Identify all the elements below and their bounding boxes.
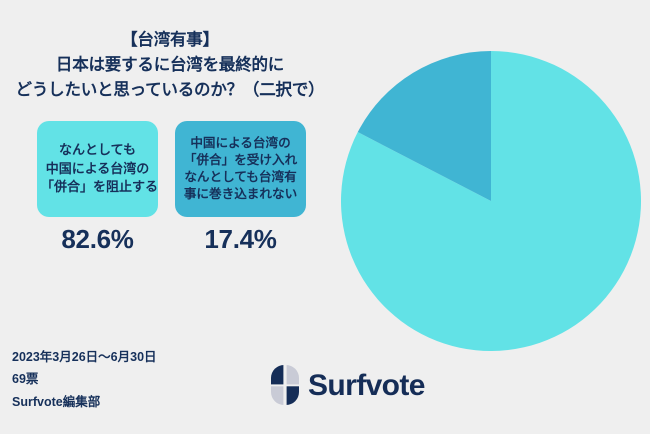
surfvote-logo: Surfvote [271, 364, 425, 406]
pie-chart [341, 51, 641, 351]
surfvote-logo-mark-icon [271, 365, 299, 405]
percent-value-option-b: 17.4% [175, 224, 306, 255]
title-line-2: 日本は要するに台湾を最終的に [0, 53, 340, 78]
footer-meta: 2023年3月26日〜6月30日 69票 Surfvote編集部 [12, 346, 157, 413]
vote-count: 69票 [12, 368, 157, 390]
legend-a-line-3: 「併合」を阻止する [41, 178, 154, 197]
legend-item-option-a: なんとしても 中国による台湾の 「併合」を阻止する [37, 121, 158, 217]
legend-b-line-4: 事に巻き込まれない [178, 186, 303, 203]
survey-source: Surfvote編集部 [12, 391, 157, 413]
legend-a-line-1: なんとしても [41, 141, 154, 160]
legend-item-option-b-label: 中国による台湾の 「併合」を受け入れ なんとしても台湾有 事に巻き込まれない [178, 135, 303, 204]
legend-b-line-2: 「併合」を受け入れ [178, 152, 303, 169]
page-title: 【台湾有事】 日本は要するに台湾を最終的に どうしたいと思っているのか？（二択で… [0, 28, 340, 103]
percent-value-option-a: 82.6% [37, 224, 158, 255]
legend-item-option-b: 中国による台湾の 「併合」を受け入れ なんとしても台湾有 事に巻き込まれない [175, 121, 306, 217]
legend-item-option-a-label: なんとしても 中国による台湾の 「併合」を阻止する [41, 141, 154, 198]
survey-period: 2023年3月26日〜6月30日 [12, 346, 157, 368]
surfvote-wordmark: Surfvote [308, 371, 425, 401]
legend-b-line-1: 中国による台湾の [178, 135, 303, 152]
title-line-3: どうしたいと思っているのか？（二択で） [0, 78, 340, 103]
legend-b-line-3: なんとしても台湾有 [178, 169, 303, 186]
infographic-canvas: 【台湾有事】 日本は要するに台湾を最終的に どうしたいと思っているのか？（二択で… [0, 0, 650, 434]
title-line-1: 【台湾有事】 [0, 28, 340, 53]
legend-a-line-2: 中国による台湾の [41, 160, 154, 179]
